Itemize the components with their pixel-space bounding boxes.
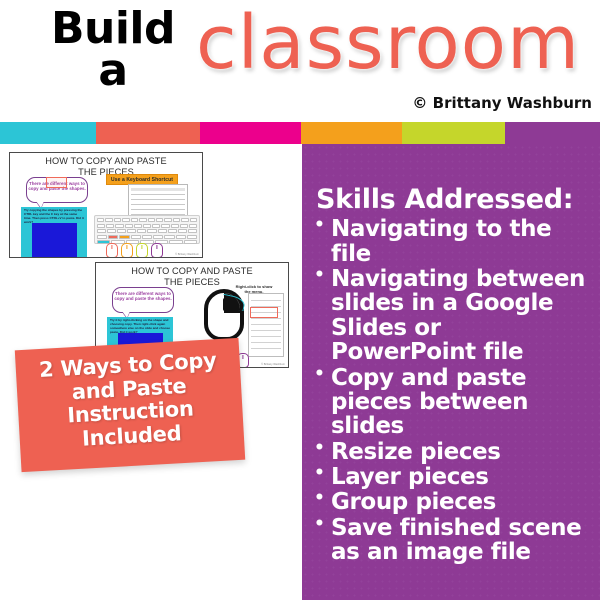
blue-shape bbox=[32, 223, 77, 257]
keyboard-row bbox=[97, 218, 197, 222]
mouse-icon bbox=[151, 243, 163, 258]
menu-row bbox=[251, 336, 281, 337]
menu-row bbox=[251, 324, 281, 325]
skills-list-item: Group pieces bbox=[314, 490, 592, 514]
mouse-icon bbox=[106, 243, 118, 258]
slide-title-line-1: HOW TO COPY AND PASTE bbox=[131, 266, 252, 276]
menu-row bbox=[251, 318, 281, 319]
keyboard-row bbox=[97, 229, 197, 233]
slide-credit: © Brittany Washburn bbox=[261, 363, 285, 366]
skills-heading: Skills Addressed: bbox=[316, 186, 592, 214]
keyboard-graphic bbox=[94, 215, 200, 244]
skills-list: Navigating to the file Navigating betwee… bbox=[314, 217, 592, 564]
menu-row bbox=[131, 209, 185, 210]
banner-line-4: Included bbox=[81, 421, 181, 451]
feature-banner-text: 2 Ways to Copy and Paste Instruction Inc… bbox=[15, 348, 244, 454]
title-highlight: classroom bbox=[196, 6, 596, 80]
skills-list-item: Resize pieces bbox=[314, 440, 592, 464]
title-line-2: a bbox=[28, 50, 198, 92]
menu-row bbox=[251, 342, 281, 343]
skills-list-item: Navigating between slides in a Google Sl… bbox=[314, 267, 592, 365]
stripe-purple bbox=[505, 122, 600, 144]
keyboard-row bbox=[97, 224, 197, 228]
menu-row bbox=[131, 194, 185, 195]
header: Build a classroom © Brittany Washburn bbox=[0, 0, 600, 122]
mouse-icon-row bbox=[106, 243, 163, 258]
menu-header-bar bbox=[131, 188, 185, 191]
stripe-teal bbox=[0, 122, 96, 144]
page-title: Build a bbox=[28, 8, 198, 92]
slide-credit: © Brittany Washburn bbox=[175, 253, 199, 256]
copyright-notice: © Brittany Washburn bbox=[412, 94, 592, 112]
slide-preview-keyboard: HOW TO COPY AND PASTE THE PIECES There a… bbox=[9, 152, 203, 258]
context-menu-highlight-box bbox=[250, 307, 278, 318]
skills-panel: Skills Addressed: Navigating to the file… bbox=[302, 144, 600, 600]
menu-row bbox=[131, 199, 185, 200]
menu-highlight-box bbox=[46, 177, 67, 188]
keyboard-row bbox=[97, 235, 197, 239]
mouse-icon bbox=[121, 243, 133, 258]
speech-bubble: There are different ways to copy and pas… bbox=[112, 287, 174, 313]
skills-list-item: Copy and paste pieces between slides bbox=[314, 366, 592, 439]
mouse-icon bbox=[136, 243, 148, 258]
product-cover: Build a classroom © Brittany Washburn HO… bbox=[0, 0, 600, 600]
skills-list-item: Save finished scene as an image file bbox=[314, 516, 592, 565]
slide-title-line-2: THE PIECES bbox=[164, 277, 220, 287]
activity-card: Try copying the shapes by pressing the C… bbox=[21, 207, 87, 258]
menu-row bbox=[251, 330, 281, 331]
color-stripe-band bbox=[0, 122, 600, 144]
slide-title-line-1: HOW TO COPY AND PASTE bbox=[45, 156, 166, 166]
stripe-coral bbox=[96, 122, 200, 144]
skills-list-item: Navigating to the file bbox=[314, 217, 592, 266]
context-menu-screenshot bbox=[248, 293, 284, 357]
feature-banner: 2 Ways to Copy and Paste Instruction Inc… bbox=[15, 338, 245, 472]
menu-row bbox=[251, 300, 281, 301]
stripe-orange bbox=[301, 122, 402, 144]
stripe-magenta bbox=[200, 122, 301, 144]
menu-row bbox=[131, 204, 185, 205]
menu-row bbox=[251, 348, 281, 349]
stripe-lime bbox=[402, 122, 505, 144]
skills-list-item: Layer pieces bbox=[314, 465, 592, 489]
